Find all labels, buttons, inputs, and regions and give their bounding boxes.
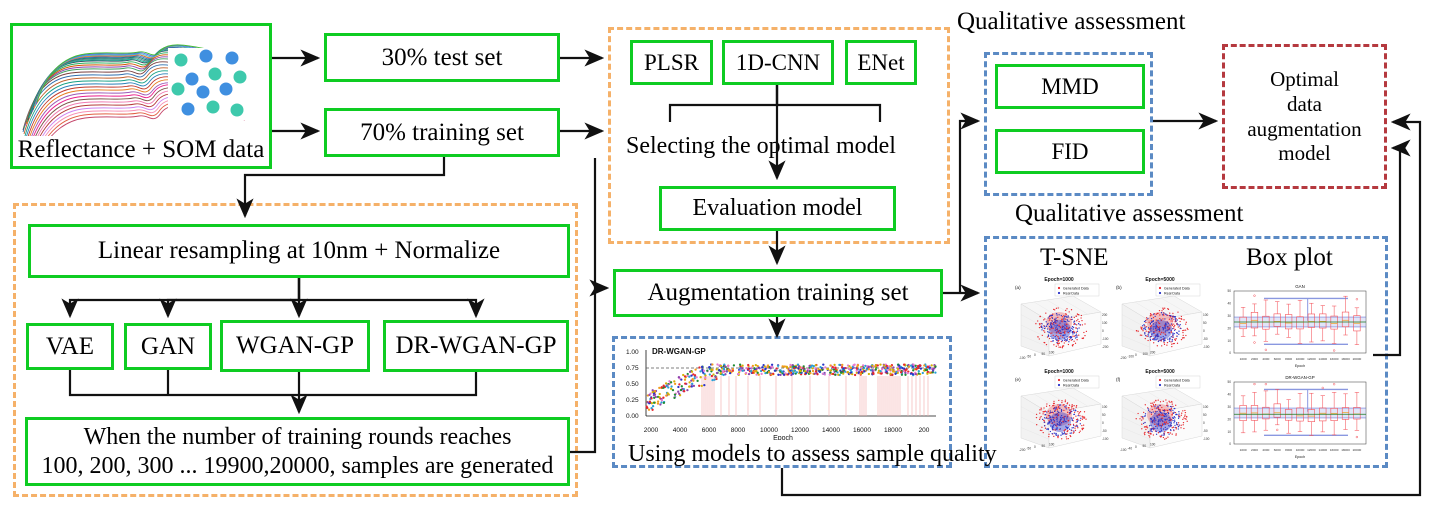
qualitative-assessment-bottom-label: Qualitative assessment xyxy=(1015,200,1243,228)
svg-text:-200: -200 xyxy=(1102,345,1109,349)
svg-text:Real Data: Real Data xyxy=(1164,384,1180,388)
svg-text:Generated Data: Generated Data xyxy=(1164,287,1190,291)
svg-text:10: 10 xyxy=(1227,339,1231,343)
svg-text:1.00: 1.00 xyxy=(626,349,639,356)
svg-text:4000: 4000 xyxy=(673,427,688,434)
svg-text:10000: 10000 xyxy=(1296,448,1305,452)
svg-text:20: 20 xyxy=(1227,326,1231,330)
tsne-panel-b: Epoch=5000(b)Generated DataReal Data-200… xyxy=(1110,274,1210,366)
vae-box[interactable]: VAE xyxy=(26,323,114,370)
svg-text:50: 50 xyxy=(1102,413,1106,417)
svg-text:0: 0 xyxy=(1102,421,1104,425)
evaluation-model-box[interactable]: Evaluation model xyxy=(659,186,896,231)
mmd-label: MMD xyxy=(1041,74,1099,100)
svg-text:0: 0 xyxy=(1135,445,1137,449)
tsne-panel-a: Epoch=1000(a)Generated DataReal Data-100… xyxy=(1009,274,1109,366)
svg-text:16000: 16000 xyxy=(853,427,871,434)
svg-text:6000: 6000 xyxy=(702,427,717,434)
svg-text:12000: 12000 xyxy=(1307,448,1316,452)
svg-text:16000: 16000 xyxy=(1330,448,1339,452)
svg-text:14000: 14000 xyxy=(1318,357,1327,361)
svg-text:-100: -100 xyxy=(1203,437,1210,441)
svg-text:0: 0 xyxy=(1229,351,1231,355)
svg-text:100: 100 xyxy=(1049,350,1055,354)
svg-text:50: 50 xyxy=(1203,321,1207,325)
tsne-panel-e: Epoch=1000(e)Generated DataReal Data-200… xyxy=(1009,366,1109,458)
svg-text:-50: -50 xyxy=(1102,429,1107,433)
optimal-line-4: model xyxy=(1247,141,1361,166)
svg-text:0: 0 xyxy=(1203,421,1205,425)
svg-text:100: 100 xyxy=(1203,313,1209,317)
svg-text:0.00: 0.00 xyxy=(626,413,639,420)
svg-text:-50: -50 xyxy=(1203,429,1208,433)
boxplot-drwgangp-chart: DR-WGAN-GP010203040501000200040006000800… xyxy=(1218,372,1373,460)
svg-text:50: 50 xyxy=(1203,413,1207,417)
quality-scatter-chart: 1.000.750.50 0.250.00 20004000 60008000 … xyxy=(624,344,942,440)
optimal-model-text: Optimal data augmentation model xyxy=(1247,67,1361,166)
drwgangp-box[interactable]: DR-WGAN-GP xyxy=(383,320,569,372)
svg-text:20000: 20000 xyxy=(1353,357,1362,361)
boxplot-title-label: Box plot xyxy=(1246,244,1333,272)
svg-text:12000: 12000 xyxy=(1307,357,1316,361)
svg-text:200: 200 xyxy=(1102,313,1108,317)
source-sample-dots xyxy=(168,48,260,120)
cnn-box[interactable]: 1D-CNN xyxy=(722,40,834,85)
boxplot-drwgangp-svg: DR-WGAN-GP010203040501000200040006000800… xyxy=(1218,372,1373,460)
svg-text:0.25: 0.25 xyxy=(626,397,639,404)
svg-text:-100: -100 xyxy=(1019,356,1026,360)
svg-text:10000: 10000 xyxy=(1296,357,1305,361)
training-set-label: 70% training set xyxy=(360,119,524,147)
svg-text:(f): (f) xyxy=(1116,377,1121,382)
svg-text:-100: -100 xyxy=(1120,448,1127,452)
svg-text:100: 100 xyxy=(1102,321,1108,325)
svg-text:0.75: 0.75 xyxy=(626,365,639,372)
svg-text:Generated Data: Generated Data xyxy=(1063,379,1089,383)
svg-text:0: 0 xyxy=(1229,442,1231,446)
enet-box[interactable]: ENet xyxy=(845,40,917,85)
svg-text:-50: -50 xyxy=(1027,355,1032,359)
svg-text:14000: 14000 xyxy=(1318,448,1327,452)
svg-text:100: 100 xyxy=(1150,442,1156,446)
plsr-label: PLSR xyxy=(644,50,699,76)
svg-text:1000: 1000 xyxy=(1240,448,1247,452)
svg-text:14000: 14000 xyxy=(822,427,840,434)
enet-label: ENet xyxy=(857,50,904,76)
svg-text:Epoch: Epoch xyxy=(1295,455,1305,459)
svg-text:-100: -100 xyxy=(1102,337,1109,341)
svg-text:-100: -100 xyxy=(1203,345,1210,349)
svg-text:100: 100 xyxy=(1143,352,1149,356)
svg-text:-50: -50 xyxy=(1203,337,1208,341)
svg-text:20: 20 xyxy=(1227,417,1231,421)
svg-text:0: 0 xyxy=(1135,353,1137,357)
svg-text:Epoch=1000: Epoch=1000 xyxy=(1044,369,1074,375)
svg-text:0: 0 xyxy=(1034,353,1036,357)
fid-label: FID xyxy=(1051,139,1088,165)
test-set-box[interactable]: 30% test set xyxy=(324,33,560,82)
svg-text:Real Data: Real Data xyxy=(1164,292,1180,296)
svg-text:8000: 8000 xyxy=(731,427,746,434)
svg-text:-100: -100 xyxy=(1102,437,1109,441)
svg-text:DR-WGAN-GP: DR-WGAN-GP xyxy=(1285,375,1314,380)
svg-text:100: 100 xyxy=(1203,405,1209,409)
svg-text:6000: 6000 xyxy=(1274,448,1281,452)
svg-text:8000: 8000 xyxy=(1285,448,1292,452)
mmd-box[interactable]: MMD xyxy=(995,64,1145,109)
svg-text:30: 30 xyxy=(1227,405,1231,409)
using-models-label: Using models to assess sample quality xyxy=(628,441,997,468)
training-set-box[interactable]: 70% training set xyxy=(324,108,560,157)
test-set-label: 30% test set xyxy=(382,44,503,72)
svg-text:100: 100 xyxy=(1102,405,1108,409)
source-data-label: Reflectance + SOM data xyxy=(18,136,265,166)
vae-label: VAE xyxy=(46,333,94,361)
wgangp-box[interactable]: WGAN-GP xyxy=(220,320,370,372)
arrow-augmentation-to-mmd xyxy=(960,121,978,293)
qualitative-assessment-top-label: Qualitative assessment xyxy=(957,8,1185,36)
tsne-panel-f-svg: Epoch=5000(f)Generated DataReal Data-100… xyxy=(1110,366,1210,458)
optimal-model-region[interactable]: Optimal data augmentation model xyxy=(1222,44,1387,189)
svg-text:Real Data: Real Data xyxy=(1063,384,1079,388)
svg-text:20000: 20000 xyxy=(1353,448,1362,452)
svg-text:2000: 2000 xyxy=(1251,357,1258,361)
svg-text:(a): (a) xyxy=(1015,285,1021,290)
tsne-panel-f: Epoch=5000(f)Generated DataReal Data-100… xyxy=(1110,366,1210,458)
svg-text:Epoch=5000: Epoch=5000 xyxy=(1145,369,1175,375)
flowchart-root: Optimal data augmentation model xyxy=(0,0,1429,513)
quality-scatter-svg: 1.000.750.50 0.250.00 20004000 60008000 … xyxy=(624,344,942,440)
svg-text:50: 50 xyxy=(1143,444,1147,448)
tsne-panel-b-svg: Epoch=5000(b)Generated DataReal Data-200… xyxy=(1110,274,1210,366)
svg-text:0: 0 xyxy=(1102,329,1104,333)
svg-text:-100: -100 xyxy=(1128,355,1135,359)
svg-text:30: 30 xyxy=(1227,314,1231,318)
svg-text:GAN: GAN xyxy=(1295,284,1305,289)
svg-text:0: 0 xyxy=(1203,329,1205,333)
svg-text:10: 10 xyxy=(1227,430,1231,434)
svg-text:Epoch=5000: Epoch=5000 xyxy=(1145,277,1175,283)
drwgangp-label: DR-WGAN-GP xyxy=(395,332,556,360)
fid-box[interactable]: FID xyxy=(995,129,1145,174)
training-rounds-box[interactable]: When the number of training rounds reach… xyxy=(25,417,570,486)
svg-text:DR-WGAN-GP: DR-WGAN-GP xyxy=(652,347,706,356)
svg-text:(b): (b) xyxy=(1116,285,1122,290)
svg-text:1000: 1000 xyxy=(1240,357,1247,361)
tsne-panel-e-svg: Epoch=1000(e)Generated DataReal Data-200… xyxy=(1009,366,1109,458)
svg-text:(e): (e) xyxy=(1015,377,1021,382)
tsne-title-label: T-SNE xyxy=(1040,244,1109,272)
svg-text:18000: 18000 xyxy=(1341,357,1350,361)
evaluation-model-label: Evaluation model xyxy=(693,195,863,222)
svg-text:Epoch=1000: Epoch=1000 xyxy=(1044,277,1074,283)
svg-text:-200: -200 xyxy=(1120,356,1127,360)
svg-text:Generated Data: Generated Data xyxy=(1164,379,1190,383)
sample-dots-svg xyxy=(168,48,260,120)
svg-text:4000: 4000 xyxy=(1262,448,1269,452)
svg-text:Epoch: Epoch xyxy=(773,435,793,440)
svg-text:50: 50 xyxy=(1042,352,1046,356)
svg-text:8000: 8000 xyxy=(1285,357,1292,361)
svg-text:2000: 2000 xyxy=(644,427,659,434)
svg-text:-40: -40 xyxy=(1128,447,1133,451)
svg-text:0.50: 0.50 xyxy=(626,381,639,388)
svg-text:-200: -200 xyxy=(1019,448,1026,452)
svg-text:200: 200 xyxy=(1150,350,1156,354)
optimal-line-2: data xyxy=(1247,92,1361,117)
svg-text:18000: 18000 xyxy=(884,427,902,434)
tsne-panel-a-svg: Epoch=1000(a)Generated DataReal Data-100… xyxy=(1009,274,1109,366)
resampling-label: Linear resampling at 10nm + Normalize xyxy=(98,237,500,265)
gan-box[interactable]: GAN xyxy=(124,323,212,370)
resampling-box[interactable]: Linear resampling at 10nm + Normalize xyxy=(28,224,570,278)
boxplot-gan-chart: GAN0102030405010002000400060008000100001… xyxy=(1218,281,1373,369)
training-rounds-line-2: 100, 200, 300 ... 19900,20000, samples a… xyxy=(42,452,554,481)
svg-text:10000: 10000 xyxy=(760,427,778,434)
wgangp-label: WGAN-GP xyxy=(236,332,354,360)
svg-text:50: 50 xyxy=(1042,444,1046,448)
svg-text:-50: -50 xyxy=(1027,447,1032,451)
svg-text:Real Data: Real Data xyxy=(1063,292,1079,296)
svg-text:12000: 12000 xyxy=(791,427,809,434)
boxplot-gan-svg: GAN0102030405010002000400060008000100001… xyxy=(1218,281,1373,369)
svg-text:50: 50 xyxy=(1227,380,1231,384)
svg-text:100: 100 xyxy=(1049,442,1055,446)
plsr-box[interactable]: PLSR xyxy=(630,40,713,85)
svg-text:6000: 6000 xyxy=(1274,357,1281,361)
training-rounds-line-1: When the number of training rounds reach… xyxy=(84,423,512,452)
svg-text:200: 200 xyxy=(919,427,930,434)
svg-text:40: 40 xyxy=(1227,393,1231,397)
svg-text:16000: 16000 xyxy=(1330,357,1339,361)
svg-text:Epoch: Epoch xyxy=(1295,364,1305,368)
svg-text:40: 40 xyxy=(1227,302,1231,306)
selecting-optimal-model-label: Selecting the optimal model xyxy=(626,133,896,160)
source-data-box[interactable]: Reflectance + SOM data xyxy=(10,23,272,169)
svg-text:Generated Data: Generated Data xyxy=(1063,287,1089,291)
optimal-line-1: Optimal xyxy=(1247,67,1361,92)
gan-label: GAN xyxy=(141,333,195,361)
svg-text:18000: 18000 xyxy=(1341,448,1350,452)
augmentation-training-set-label: Augmentation training set xyxy=(647,279,908,307)
svg-text:4000: 4000 xyxy=(1262,357,1269,361)
svg-text:50: 50 xyxy=(1227,289,1231,293)
optimal-line-3: augmentation xyxy=(1247,117,1361,142)
svg-text:0: 0 xyxy=(1034,445,1036,449)
cnn-label: 1D-CNN xyxy=(736,50,820,76)
augmentation-training-set-box[interactable]: Augmentation training set xyxy=(613,269,943,317)
svg-text:2000: 2000 xyxy=(1251,448,1258,452)
